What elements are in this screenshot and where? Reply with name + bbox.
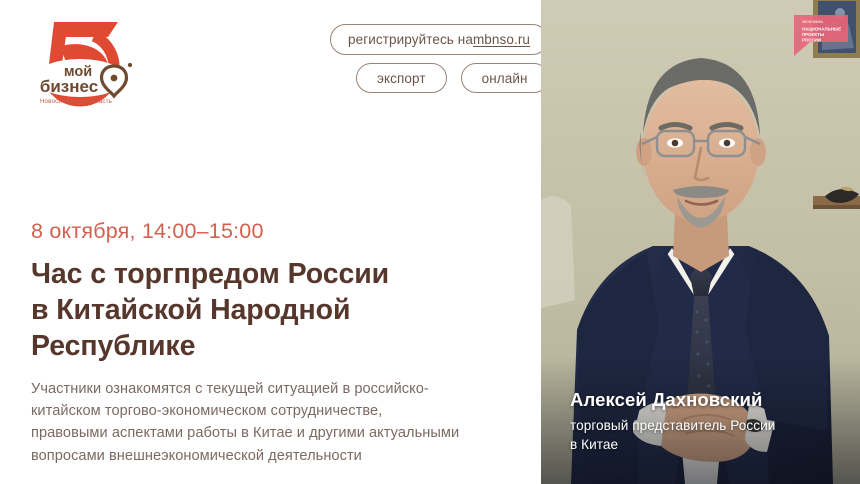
registration-pill-row: регистрируйтесь на mbnso.ru: [330, 24, 548, 55]
speaker-role: торговый представитель России в Китае: [570, 417, 850, 454]
tag-pill-online[interactable]: онлайн: [461, 63, 549, 93]
badge-line-1: НАЦИОНАЛЬНЫЕ: [802, 27, 841, 32]
event-description-line-4: вопросами внешнеэкономической деятельнос…: [31, 445, 511, 467]
event-title: Час с торгпредом России в Китайской Наро…: [31, 256, 501, 365]
event-description-line-2: китайском торгово-экономическом сотрудни…: [31, 400, 511, 422]
event-title-line-1: Час с торгпредом России: [31, 256, 501, 292]
event-poster: мой бизнес Новосибирская область регистр…: [0, 0, 860, 484]
badge-top-label: ЭКОНОМИКА: [802, 20, 824, 24]
tag-pill-row: экспорт онлайн: [356, 63, 549, 93]
event-title-line-2: в Китайской Народной: [31, 292, 501, 328]
speaker-role-line-2: в Китае: [570, 436, 850, 454]
registration-pill[interactable]: регистрируйтесь на mbnso.ru: [330, 24, 548, 55]
speaker-role-line-1: торговый представитель России: [570, 417, 850, 435]
national-projects-badge: ЭКОНОМИКА НАЦИОНАЛЬНЫЕ ПРОЕКТЫ РОССИИ: [790, 12, 848, 60]
left-content-panel: мой бизнес Новосибирская область регистр…: [0, 0, 541, 484]
logo-line2: бизнес: [40, 77, 98, 96]
moy-biznes-logo[interactable]: мой бизнес Новосибирская область: [22, 12, 142, 116]
event-description-line-1: Участники ознакомятся с текущей ситуацие…: [31, 378, 511, 400]
registration-link[interactable]: mbnso.ru: [473, 32, 530, 47]
logo-region: Новосибирская область: [40, 98, 112, 105]
speaker-name: Алексей Дахновский: [570, 389, 850, 411]
event-datetime: 8 октября, 14:00–15:00: [31, 219, 264, 244]
badge-line-3: РОССИИ: [802, 37, 821, 42]
event-description-line-3: правовыми аспектами работы в Китае и дру…: [31, 422, 511, 444]
tag-pill-export[interactable]: экспорт: [356, 63, 447, 93]
event-description: Участники ознакомятся с текущей ситуацие…: [31, 378, 511, 467]
speaker-caption: Алексей Дахновский торговый представител…: [570, 389, 850, 454]
badge-line-2: ПРОЕКТЫ: [802, 32, 824, 37]
registration-prefix: регистрируйтесь на: [348, 32, 473, 47]
event-title-line-3: Республике: [31, 328, 501, 364]
